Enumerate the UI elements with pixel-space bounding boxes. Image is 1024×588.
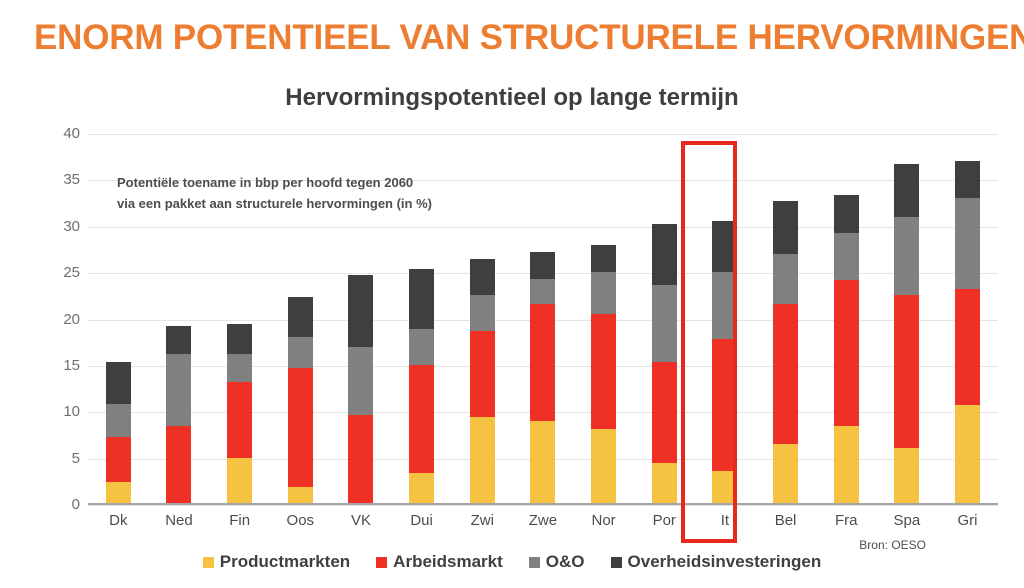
x-axis-label-zwi: Zwi [452,508,512,534]
bar-segment-productmarkten [288,487,313,503]
chart-title: Hervormingspotentieel op lange termijn [0,82,1024,114]
bar-segment-o-o [955,198,980,289]
legend-item-productmarkten[interactable]: Productmarkten [203,552,350,572]
y-axis-tick-label: 20 [34,311,80,328]
bar-segment-productmarkten [470,417,495,503]
bar-segment-arbeidsmarkt [348,415,373,503]
bar-column-nor[interactable] [574,134,634,503]
legend-label: Arbeidsmarkt [393,552,503,572]
bar-segment-o-o [652,285,677,362]
y-axis-tick-label: 5 [34,450,80,467]
annotation-line-1: Potentiële toename in bbp per hoofd tege… [117,172,547,193]
source-note: Bron: OESO [859,538,926,552]
stacked-bar[interactable] [348,275,373,503]
stacked-bar[interactable] [106,362,131,503]
stacked-bar[interactable] [166,326,191,503]
bar-segment-productmarkten [409,473,434,503]
bar-column-fra[interactable] [816,134,876,503]
bar-segment-arbeidsmarkt [227,382,252,458]
x-axis-labels: DkNedFinOosVKDuiZwiZweNorPorItBelFraSpaG… [88,508,998,534]
bar-segment-o-o [591,272,616,314]
y-axis-tick-label: 40 [34,125,80,142]
bar-segment-arbeidsmarkt [409,365,434,473]
bar-segment-o-o [106,404,131,436]
bar-segment-overheidsinvesteringen [409,269,434,329]
legend-swatch-icon [203,557,214,568]
legend-label: Productmarkten [220,552,350,572]
x-axis-line [88,503,998,505]
legend-item-arbeidsmarkt[interactable]: Arbeidsmarkt [376,552,503,572]
x-axis-label-bel: Bel [756,508,816,534]
bar-segment-productmarkten [652,463,677,503]
stacked-bar[interactable] [894,164,919,503]
bar-segment-arbeidsmarkt [834,280,859,427]
bar-segment-o-o [834,233,859,280]
y-axis-tick-label: 0 [34,496,80,513]
annotation-line-2: via een pakket aan structurele hervormin… [117,193,547,214]
bar-segment-overheidsinvesteringen [530,252,555,279]
x-axis-label-por: Por [634,508,694,534]
x-axis-label-dui: Dui [392,508,452,534]
stacked-bar[interactable] [955,161,980,503]
legend-item-o-o[interactable]: O&O [529,552,585,572]
bar-segment-productmarkten [591,429,616,503]
bar-segment-productmarkten [955,405,980,503]
bar-segment-productmarkten [773,444,798,503]
bar-segment-overheidsinvesteringen [470,259,495,295]
x-axis-label-nor: Nor [574,508,634,534]
x-axis-label-spa: Spa [877,508,937,534]
bar-segment-arbeidsmarkt [166,426,191,503]
bar-segment-productmarkten [106,482,131,503]
bar-segment-arbeidsmarkt [288,368,313,487]
stacked-bar[interactable] [652,224,677,503]
bar-segment-o-o [409,329,434,365]
x-axis-label-it: It [695,508,755,534]
y-axis-tick-label: 30 [34,218,80,235]
y-axis-tick-label: 15 [34,357,80,374]
bar-segment-o-o [470,295,495,332]
bar-segment-arbeidsmarkt [106,437,131,482]
stacked-bar[interactable] [773,201,798,503]
bar-segment-overheidsinvesteringen [955,161,980,198]
legend-label: Overheidsinvesteringen [628,552,822,572]
legend-swatch-icon [376,557,387,568]
bar-segment-arbeidsmarkt [894,295,919,447]
legend-swatch-icon [529,557,540,568]
bar-segment-o-o [530,279,555,304]
x-axis-label-vk: VK [331,508,391,534]
bar-column-bel[interactable] [756,134,816,503]
bar-segment-o-o [894,217,919,295]
x-axis-label-zwe: Zwe [513,508,573,534]
x-axis-label-gri: Gri [938,508,998,534]
gridline [88,505,998,506]
x-axis-label-ned: Ned [149,508,209,534]
bar-segment-productmarkten [530,421,555,503]
bar-segment-o-o [227,354,252,383]
bar-segment-arbeidsmarkt [652,362,677,463]
bar-segment-overheidsinvesteringen [348,275,373,347]
y-axis: 0510152025303540 [34,134,80,505]
bar-segment-overheidsinvesteringen [166,326,191,354]
bar-segment-o-o [348,347,373,415]
stacked-bar[interactable] [470,259,495,503]
stacked-bar[interactable] [530,252,555,503]
bar-segment-overheidsinvesteringen [106,362,131,404]
bar-segment-productmarkten [227,458,252,503]
bar-segment-overheidsinvesteringen [227,324,252,354]
stacked-bar[interactable] [288,297,313,503]
bar-segment-overheidsinvesteringen [288,297,313,337]
bar-segment-productmarkten [894,448,919,503]
y-axis-tick-label: 35 [34,171,80,188]
bar-segment-productmarkten [834,426,859,503]
bar-segment-o-o [166,354,191,427]
bar-segment-overheidsinvesteringen [591,245,616,273]
x-axis-label-dk: Dk [88,508,148,534]
y-axis-tick-label: 10 [34,403,80,420]
bar-segment-arbeidsmarkt [955,289,980,405]
legend-item-overheidsinvesteringen[interactable]: Overheidsinvesteringen [611,552,822,572]
y-axis-tick-label: 25 [34,264,80,281]
bar-segment-arbeidsmarkt [773,304,798,444]
bar-column-spa[interactable] [877,134,937,503]
page-headline: ENORM POTENTIEEL VAN STRUCTURELE HERVORM… [34,14,1004,62]
bar-column-gri[interactable] [938,134,998,503]
bar-segment-o-o [288,337,313,368]
bar-segment-o-o [773,254,798,304]
bar-segment-arbeidsmarkt [470,331,495,417]
bar-segment-overheidsinvesteringen [652,224,677,286]
stacked-bar[interactable] [409,269,434,503]
legend-label: O&O [546,552,585,572]
x-axis-label-fin: Fin [210,508,270,534]
bar-segment-overheidsinvesteringen [773,201,798,254]
stacked-bar[interactable] [591,245,616,503]
bar-segment-arbeidsmarkt [530,304,555,421]
x-axis-label-oos: Oos [270,508,330,534]
stacked-bar[interactable] [227,324,252,503]
stacked-bar[interactable] [834,195,859,503]
legend-swatch-icon [611,557,622,568]
bar-segment-arbeidsmarkt [591,314,616,429]
chart-annotation: Potentiële toename in bbp per hoofd tege… [117,172,547,214]
highlight-box-bel [681,141,737,543]
x-axis-label-fra: Fra [816,508,876,534]
bar-segment-overheidsinvesteringen [834,195,859,233]
bar-segment-overheidsinvesteringen [894,164,919,218]
